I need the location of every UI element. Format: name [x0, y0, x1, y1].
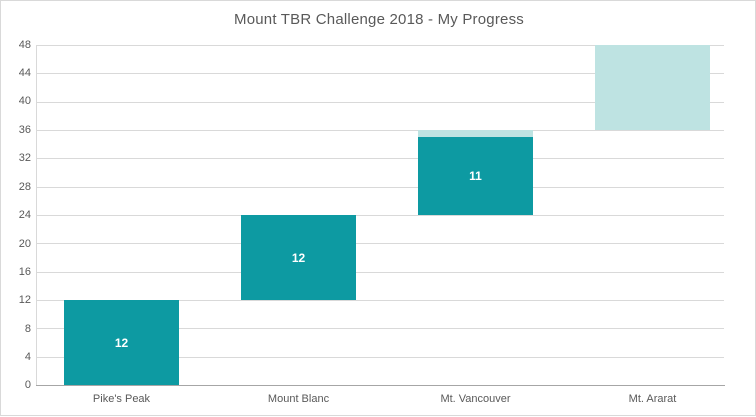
x-tick-label-mount-blanc: Mount Blanc — [241, 393, 356, 405]
bar-segment-filled[interactable]: 12 — [64, 300, 179, 385]
y-tick-label: 8 — [5, 324, 31, 335]
y-tick-label: 24 — [5, 210, 31, 221]
y-tick-label: 20 — [5, 239, 31, 250]
y-tick-label: 48 — [5, 40, 31, 51]
bar-mt-vancouver[interactable]: 11 — [418, 130, 533, 215]
bar-pikes-peak[interactable]: 12 — [64, 300, 179, 385]
x-tick-label-pikes-peak: Pike's Peak — [64, 393, 179, 405]
x-tick-label-mt-vancouver: Mt. Vancouver — [418, 393, 533, 405]
y-tick-label: 28 — [5, 182, 31, 193]
x-tick-label-mt-ararat: Mt. Ararat — [595, 393, 710, 405]
y-tick-label: 16 — [5, 267, 31, 278]
bar-segment-filled[interactable]: 11 — [418, 137, 533, 215]
y-tick-label: 4 — [5, 352, 31, 363]
y-tick-label: 44 — [5, 68, 31, 79]
y-tick-label: 36 — [5, 125, 31, 136]
bar-segment-filled[interactable]: 12 — [241, 215, 356, 300]
bar-mount-blanc[interactable]: 12 — [241, 215, 356, 300]
gridline — [36, 187, 724, 188]
bar-segment-remaining[interactable] — [418, 130, 533, 137]
bar-mt-ararat[interactable] — [595, 45, 710, 130]
y-tick-label: 12 — [5, 295, 31, 306]
bar-segment-remaining[interactable] — [595, 45, 710, 130]
gridline — [36, 243, 724, 244]
gridline — [36, 130, 724, 131]
plot-area: 12 12 11 — [36, 45, 724, 385]
bar-value-label: 12 — [64, 337, 179, 349]
bar-value-label: 12 — [241, 252, 356, 264]
y-tick-label: 40 — [5, 96, 31, 107]
gridline — [36, 272, 724, 273]
gridline — [36, 215, 724, 216]
x-axis-line — [36, 385, 725, 386]
chart-container: Mount TBR Challenge 2018 - My Progress 4… — [0, 0, 756, 416]
y-tick-label: 0 — [5, 380, 31, 391]
bar-value-label: 11 — [418, 170, 533, 182]
y-tick-label: 32 — [5, 153, 31, 164]
gridline — [36, 158, 724, 159]
chart-title: Mount TBR Challenge 2018 - My Progress — [1, 11, 756, 28]
y-axis: 48 44 40 36 32 28 24 20 16 12 8 4 0 — [1, 1, 31, 417]
